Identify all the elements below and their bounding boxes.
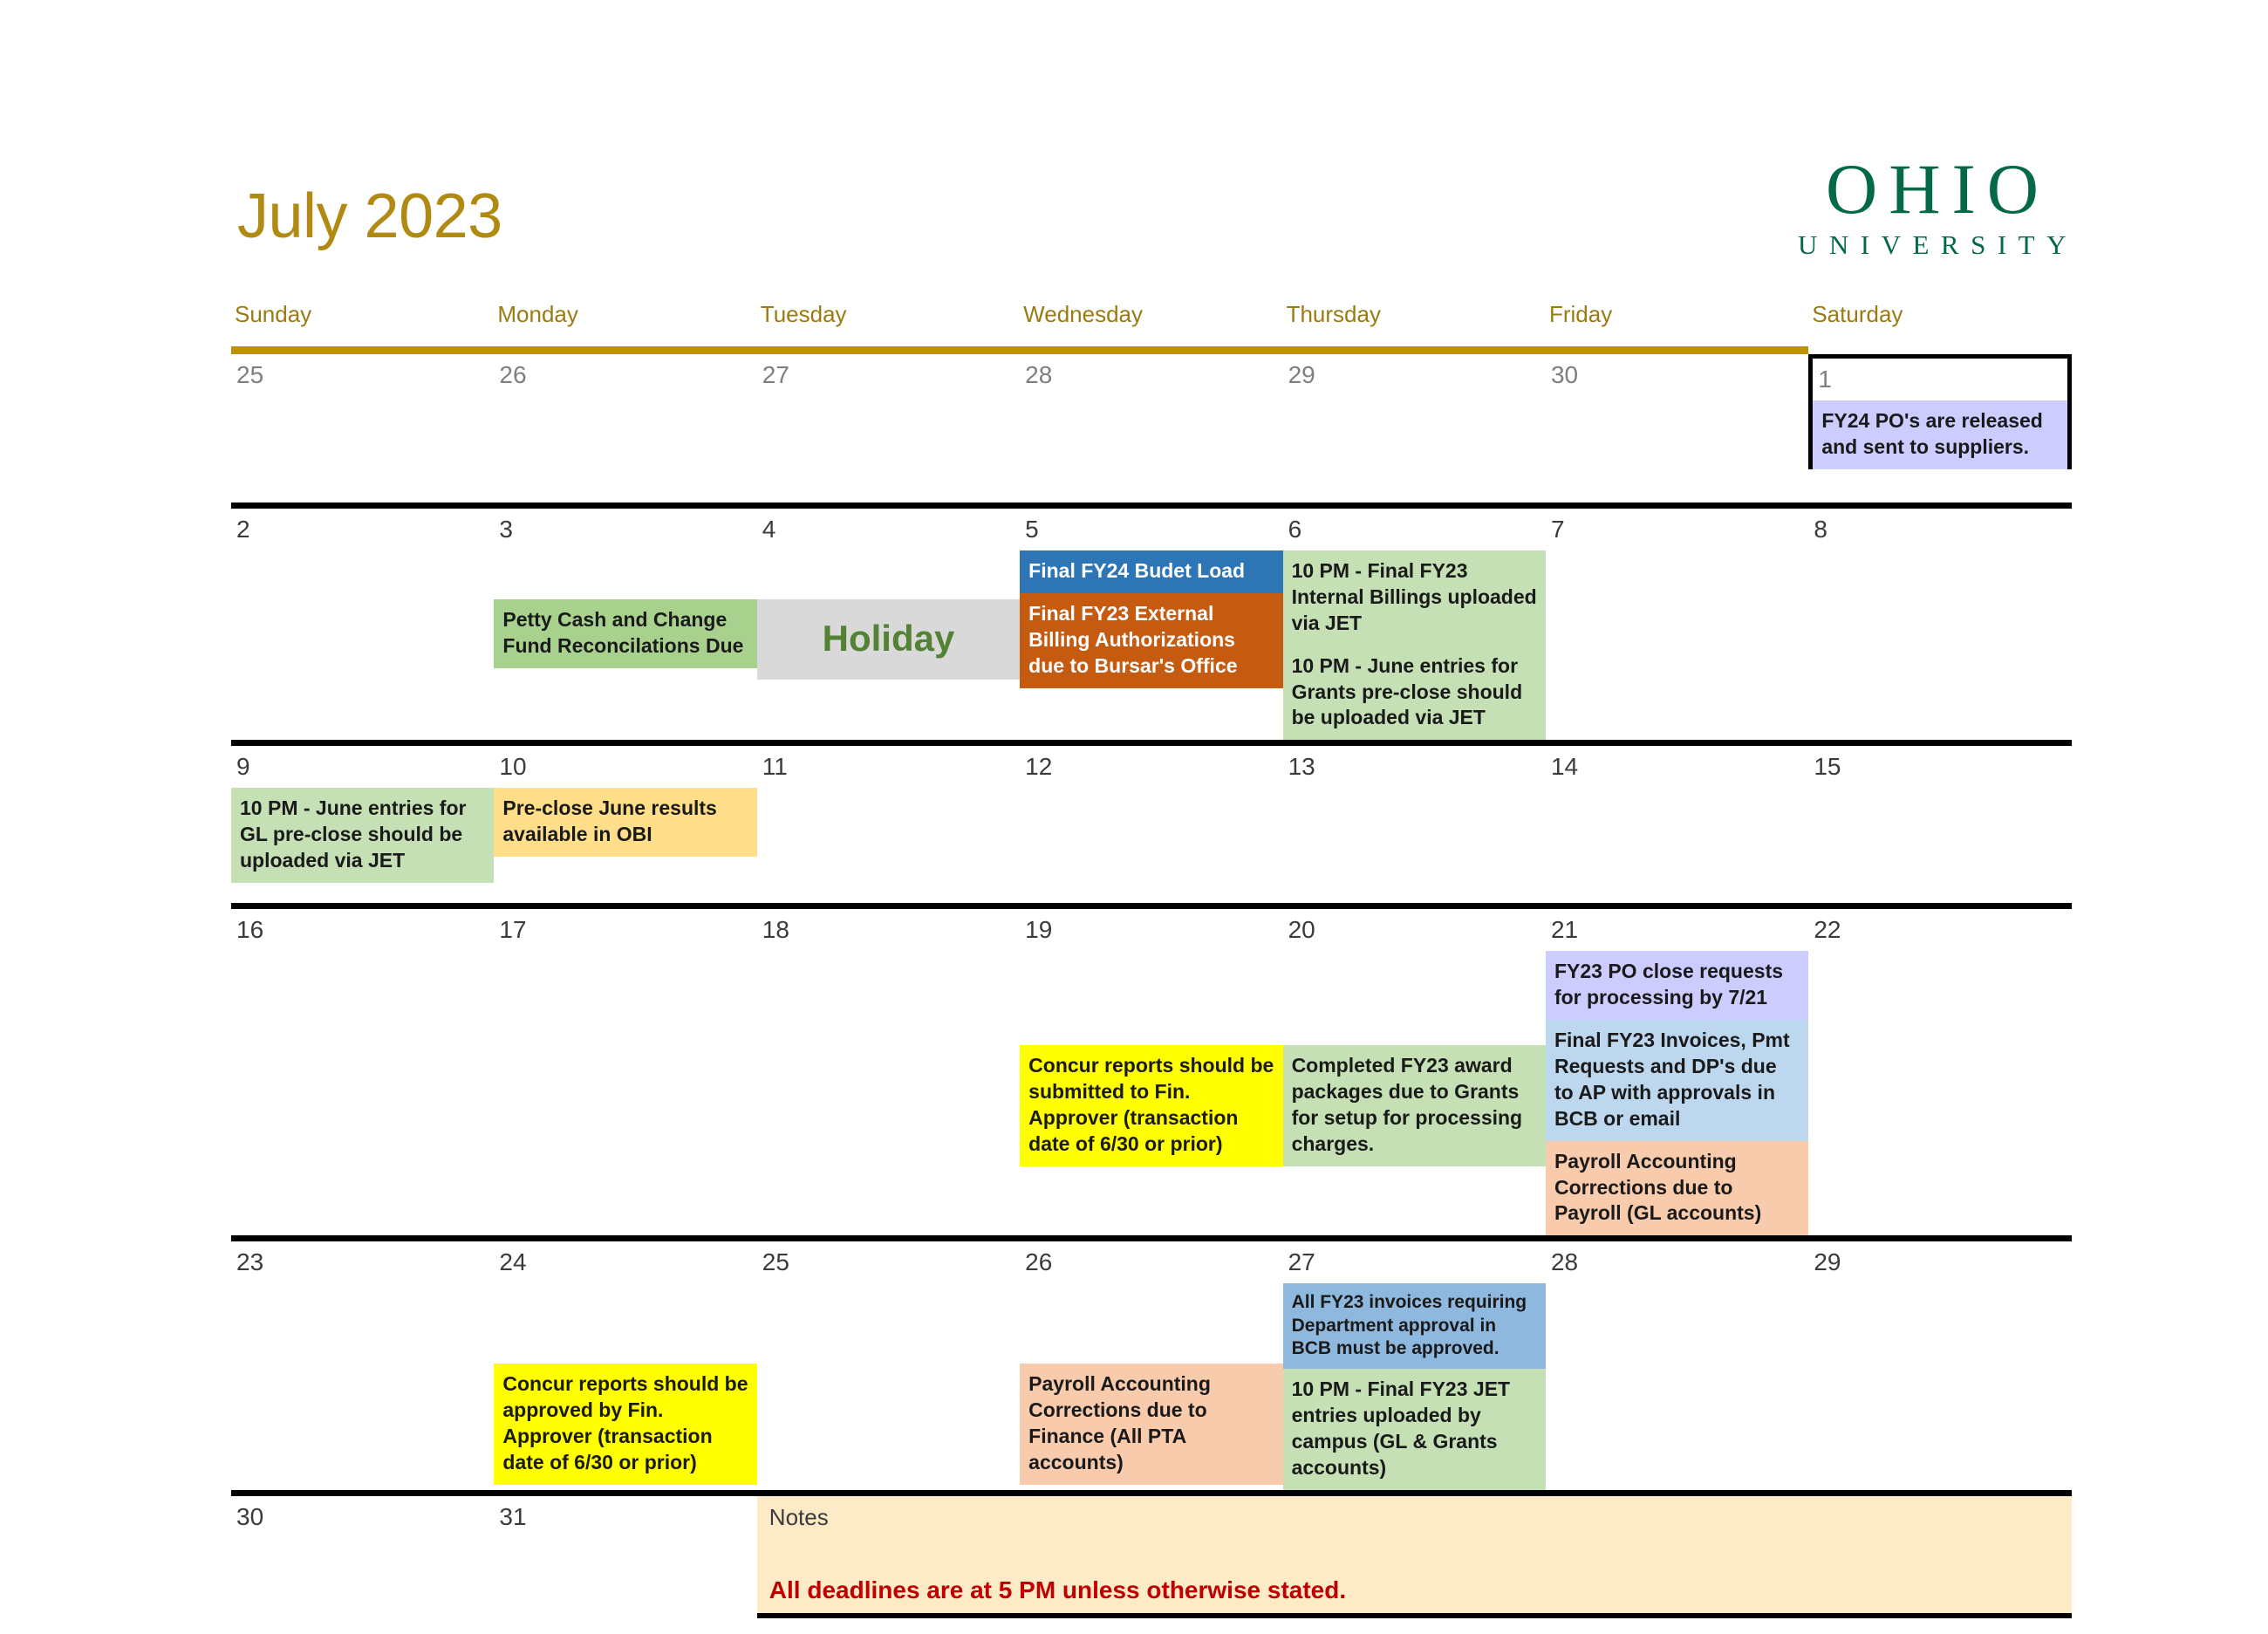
day-cell-30[interactable]: 30 bbox=[1546, 354, 1808, 469]
day-events: FY23 PO close requests for processing by… bbox=[1546, 951, 1808, 1235]
logo-wordmark: OHIO bbox=[1786, 155, 2078, 223]
day-number: 25 bbox=[757, 1241, 1020, 1283]
day-cell-31[interactable]: 31 bbox=[494, 1496, 756, 1538]
day-cell-9[interactable]: 910 PM - June entries for GL pre-close s… bbox=[231, 746, 494, 883]
calendar-event[interactable]: Concur reports should be submitted to Fi… bbox=[1020, 1045, 1282, 1166]
calendar-week-row: 2324Concur reports should be approved by… bbox=[231, 1235, 2072, 1489]
day-cell-13[interactable]: 13 bbox=[1283, 746, 1546, 883]
day-number: 27 bbox=[1283, 1241, 1546, 1283]
day-events: Completed FY23 award packages due to Gra… bbox=[1283, 951, 1546, 1166]
day-cell-27[interactable]: 27 bbox=[757, 354, 1020, 469]
day-cell-20[interactable]: 20Completed FY23 award packages due to G… bbox=[1283, 909, 1546, 1235]
day-number: 20 bbox=[1283, 909, 1546, 951]
day-number: 1 bbox=[1813, 359, 2066, 400]
day-number: 18 bbox=[757, 909, 1020, 951]
day-cell-29[interactable]: 29 bbox=[1808, 1241, 2071, 1489]
day-events: FY24 PO's are released and sent to suppl… bbox=[1813, 400, 2066, 469]
calendar-event[interactable]: Concur reports should be approved by Fin… bbox=[494, 1364, 756, 1485]
day-cell-4[interactable]: 4Holiday bbox=[757, 509, 1020, 740]
day-cell-18[interactable]: 18 bbox=[757, 909, 1020, 1235]
calendar-week-row: 910 PM - June entries for GL pre-close s… bbox=[231, 740, 2072, 903]
day-number: 12 bbox=[1020, 746, 1282, 788]
day-number: 17 bbox=[494, 909, 756, 951]
calendar-grid: SundayMondayTuesdayWednesdayThursdayFrid… bbox=[231, 301, 2072, 1623]
day-cell-29[interactable]: 29 bbox=[1283, 354, 1546, 469]
calendar-event[interactable]: Final FY24 Budet Load bbox=[1020, 550, 1282, 593]
day-cell-28[interactable]: 28 bbox=[1546, 1241, 1808, 1489]
day-cell-30[interactable]: 30 bbox=[231, 1496, 494, 1538]
day-cell-26[interactable]: 26 bbox=[494, 354, 756, 469]
day-number: 28 bbox=[1020, 354, 1282, 396]
day-cell-23[interactable]: 23 bbox=[231, 1241, 494, 1489]
event-offset-spacer bbox=[494, 550, 756, 599]
day-number: 4 bbox=[757, 509, 1020, 550]
day-number: 5 bbox=[1020, 509, 1282, 550]
event-offset-spacer bbox=[1020, 1283, 1282, 1364]
calendar-week-row: 23Petty Cash and Change Fund Reconcilati… bbox=[231, 503, 2072, 740]
day-cell-17[interactable]: 17 bbox=[494, 909, 756, 1235]
day-events: Holiday bbox=[757, 550, 1020, 680]
day-number: 2 bbox=[231, 509, 494, 550]
event-offset-spacer bbox=[757, 550, 1020, 599]
day-number: 29 bbox=[1283, 354, 1546, 396]
day-cell-21[interactable]: 21FY23 PO close requests for processing … bbox=[1546, 909, 1808, 1235]
weekday-header-sunday: Sunday bbox=[231, 301, 494, 346]
event-offset-spacer bbox=[494, 1283, 756, 1364]
day-number: 22 bbox=[1808, 909, 2071, 951]
day-number: 29 bbox=[1808, 1241, 2071, 1283]
logo-subtitle: UNIVERSITY bbox=[1786, 229, 2078, 263]
day-number: 19 bbox=[1020, 909, 1282, 951]
day-number: 3 bbox=[494, 509, 756, 550]
notes-text: All deadlines are at 5 PM unless otherwi… bbox=[769, 1576, 2060, 1604]
weekday-header-wednesday: Wednesday bbox=[1020, 301, 1282, 346]
day-number: 15 bbox=[1808, 746, 2071, 788]
day-cell-15[interactable]: 15 bbox=[1808, 746, 2071, 883]
day-cell-16[interactable]: 16 bbox=[231, 909, 494, 1235]
day-number: 10 bbox=[494, 746, 756, 788]
calendar-page: July 2023 OHIO UNIVERSITY SundayMondayTu… bbox=[0, 0, 2268, 1634]
day-number: 9 bbox=[231, 746, 494, 788]
day-cell-8[interactable]: 8 bbox=[1808, 509, 2071, 740]
day-cell-25[interactable]: 25 bbox=[757, 1241, 1020, 1489]
day-number: 30 bbox=[231, 1496, 494, 1538]
day-number: 27 bbox=[757, 354, 1020, 396]
weekday-header-saturday: Saturday bbox=[1808, 301, 2071, 346]
calendar-event[interactable]: Holiday bbox=[757, 599, 1020, 680]
calendar-event[interactable]: FY24 PO's are released and sent to suppl… bbox=[1813, 400, 2066, 469]
calendar-week-row: 2526272829301FY24 PO's are released and … bbox=[231, 354, 2072, 503]
ohio-university-logo: OHIO UNIVERSITY bbox=[1786, 155, 2078, 263]
calendar-event[interactable]: Pre-close June results available in OBI bbox=[494, 788, 756, 857]
day-number: 11 bbox=[757, 746, 1020, 788]
day-events: Pre-close June results available in OBI bbox=[494, 788, 756, 857]
day-cell-3[interactable]: 3Petty Cash and Change Fund Reconcilatio… bbox=[494, 509, 756, 740]
day-number: 21 bbox=[1546, 909, 1808, 951]
calendar-event[interactable]: Payroll Accounting Corrections due to Pa… bbox=[1546, 1141, 1808, 1236]
day-number: 25 bbox=[231, 354, 494, 396]
day-cell-11[interactable]: 11 bbox=[757, 746, 1020, 883]
calendar-event[interactable]: Final FY23 Invoices, Pmt Requests and DP… bbox=[1546, 1020, 1808, 1141]
day-cell-7[interactable]: 7 bbox=[1546, 509, 1808, 740]
day-cell-5[interactable]: 5Final FY24 Budet LoadFinal FY23 Externa… bbox=[1020, 509, 1282, 740]
weekday-header-row: SundayMondayTuesdayWednesdayThursdayFrid… bbox=[231, 301, 2072, 346]
day-number: 16 bbox=[231, 909, 494, 951]
day-cell-1[interactable]: 1FY24 PO's are released and sent to supp… bbox=[1808, 354, 2071, 469]
calendar-week-row: 16171819Concur reports should be submitt… bbox=[231, 903, 2072, 1235]
day-number: 31 bbox=[494, 1496, 756, 1538]
day-number: 23 bbox=[231, 1241, 494, 1283]
day-number: 8 bbox=[1808, 509, 2071, 550]
weekday-header-monday: Monday bbox=[494, 301, 756, 346]
day-events: Final FY24 Budet LoadFinal FY23 External… bbox=[1020, 550, 1282, 688]
day-cell-14[interactable]: 14 bbox=[1546, 746, 1808, 883]
calendar-week-row: 3031NotesAll deadlines are at 5 PM unles… bbox=[231, 1490, 2072, 1623]
calendar-event[interactable]: FY23 PO close requests for processing by… bbox=[1546, 951, 1808, 1020]
calendar-event[interactable]: Completed FY23 award packages due to Gra… bbox=[1283, 1045, 1546, 1166]
day-number: 6 bbox=[1283, 509, 1546, 550]
day-cell-25[interactable]: 25 bbox=[231, 354, 494, 469]
day-events: All FY23 invoices requiring Department a… bbox=[1283, 1283, 1546, 1489]
calendar-event[interactable]: 10 PM - Final FY23 Internal Billings upl… bbox=[1283, 550, 1546, 646]
calendar-event[interactable]: Final FY23 External Billing Authorizatio… bbox=[1020, 593, 1282, 688]
day-cell-27[interactable]: 27All FY23 invoices requiring Department… bbox=[1283, 1241, 1546, 1489]
event-offset-spacer bbox=[1020, 951, 1282, 1045]
calendar-event[interactable]: 10 PM - June entries for Grants pre-clos… bbox=[1283, 646, 1546, 741]
calendar-event[interactable]: All FY23 invoices requiring Department a… bbox=[1283, 1283, 1546, 1369]
day-events: Concur reports should be approved by Fin… bbox=[494, 1283, 756, 1485]
day-number: 30 bbox=[1546, 354, 1808, 396]
calendar-event[interactable]: Payroll Accounting Corrections due to Fi… bbox=[1020, 1364, 1282, 1485]
day-cell-19[interactable]: 19Concur reports should be submitted to … bbox=[1020, 909, 1282, 1235]
page-title: July 2023 bbox=[237, 185, 502, 248]
day-number: 14 bbox=[1546, 746, 1808, 788]
weekday-header-tuesday: Tuesday bbox=[757, 301, 1020, 346]
notes-panel: NotesAll deadlines are at 5 PM unless ot… bbox=[757, 1496, 2072, 1618]
calendar-event[interactable]: 10 PM - Final FY23 JET entries uploaded … bbox=[1283, 1369, 1546, 1490]
weekday-header-thursday: Thursday bbox=[1283, 301, 1546, 346]
day-number: 28 bbox=[1546, 1241, 1808, 1283]
day-events: 10 PM - June entries for GL pre-close sh… bbox=[231, 788, 494, 883]
day-number: 26 bbox=[494, 354, 756, 396]
day-cell-28[interactable]: 28 bbox=[1020, 354, 1282, 469]
weekday-header-friday: Friday bbox=[1546, 301, 1808, 346]
day-cell-12[interactable]: 12 bbox=[1020, 746, 1282, 883]
day-cell-22[interactable]: 22 bbox=[1808, 909, 2071, 1235]
event-offset-spacer bbox=[1283, 951, 1546, 1045]
day-events: Concur reports should be submitted to Fi… bbox=[1020, 951, 1282, 1166]
day-events: Payroll Accounting Corrections due to Fi… bbox=[1020, 1283, 1282, 1485]
day-number: 24 bbox=[494, 1241, 756, 1283]
day-number: 13 bbox=[1283, 746, 1546, 788]
day-cell-24[interactable]: 24Concur reports should be approved by F… bbox=[494, 1241, 756, 1489]
day-events: 10 PM - Final FY23 Internal Billings upl… bbox=[1283, 550, 1546, 740]
day-number: 26 bbox=[1020, 1241, 1282, 1283]
calendar-event[interactable]: Petty Cash and Change Fund Reconcilation… bbox=[494, 599, 756, 668]
day-cell-6[interactable]: 610 PM - Final FY23 Internal Billings up… bbox=[1283, 509, 1546, 740]
day-cell-10[interactable]: 10Pre-close June results available in OB… bbox=[494, 746, 756, 883]
notes-label: Notes bbox=[769, 1505, 2060, 1530]
day-cell-26[interactable]: 26Payroll Accounting Corrections due to … bbox=[1020, 1241, 1282, 1489]
day-events: Petty Cash and Change Fund Reconcilation… bbox=[494, 550, 756, 668]
day-number: 7 bbox=[1546, 509, 1808, 550]
calendar-event[interactable]: 10 PM - June entries for GL pre-close sh… bbox=[231, 788, 494, 883]
day-cell-2[interactable]: 2 bbox=[231, 509, 494, 740]
header-rule bbox=[231, 346, 2072, 354]
